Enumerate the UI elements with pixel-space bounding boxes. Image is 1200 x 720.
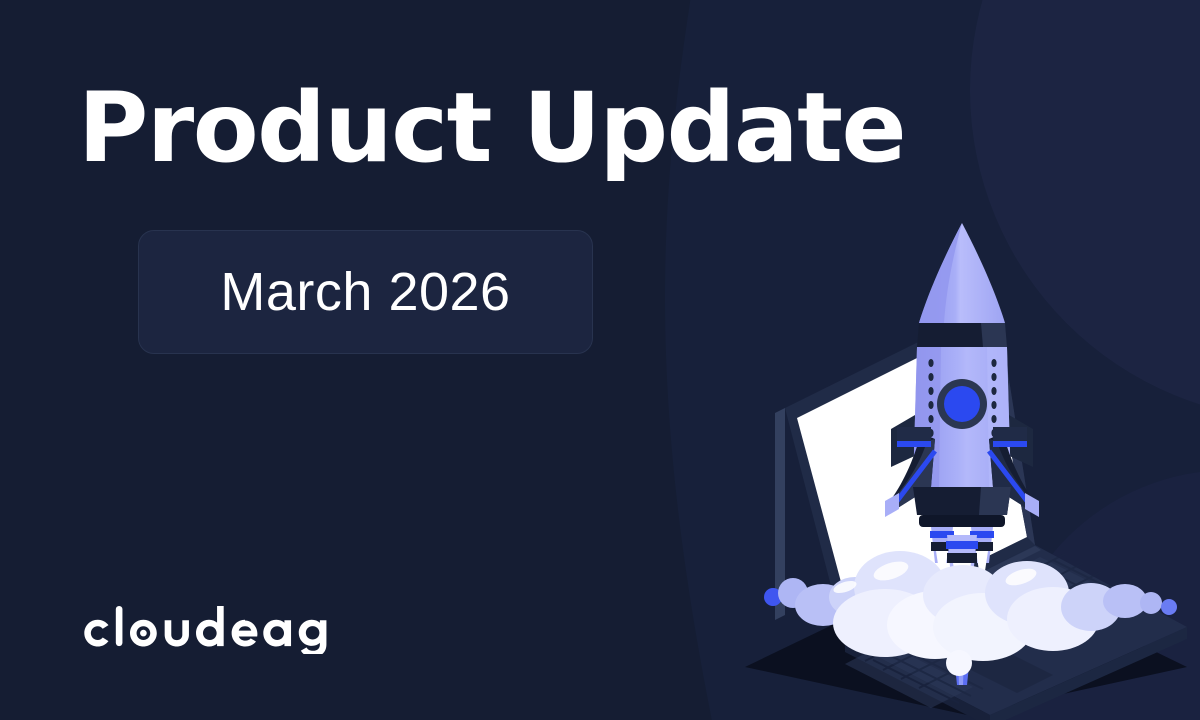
smoke-puff-bottom <box>946 650 972 676</box>
date-badge-label: March 2026 <box>220 261 510 323</box>
rocket-wing-left-stripe <box>897 441 931 447</box>
rocket-wing-left <box>897 427 931 441</box>
smoke-dot-right <box>1161 599 1177 615</box>
rocket-wing-right <box>993 427 1027 441</box>
page-title: Product Update <box>78 80 905 178</box>
rocket-engine-collar-light <box>979 487 1011 515</box>
smoke-puff-r5 <box>1140 592 1162 614</box>
rocket-nozzle-center-band <box>947 553 977 563</box>
rocket-nozzle-center-stripe <box>946 541 978 549</box>
rocket-laptop-illustration <box>735 215 1200 720</box>
rocket-wing-right-stripe <box>993 441 1027 447</box>
cloudeagle-wordmark <box>78 602 338 654</box>
rocket-engine-collar-lip <box>919 515 1005 527</box>
product-update-banner: Product Update March 2026 <box>0 0 1200 720</box>
rocket-nose-band-highlight <box>981 323 1007 347</box>
rocket-porthole-glass <box>944 386 980 422</box>
brand-logo <box>78 600 338 656</box>
date-badge: March 2026 <box>138 230 593 354</box>
